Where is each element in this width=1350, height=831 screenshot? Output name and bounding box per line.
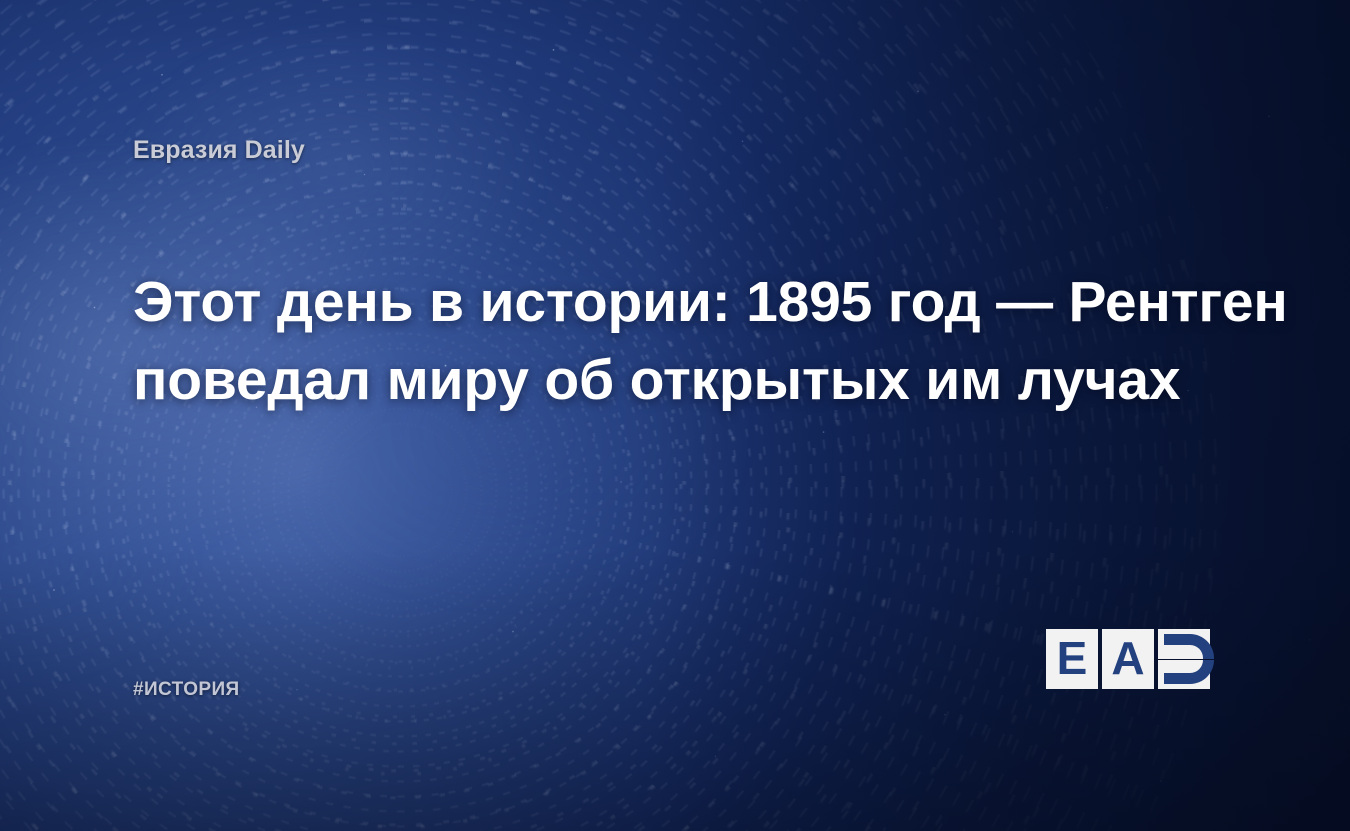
logo-arc-lower-icon (1158, 660, 1222, 689)
eadaily-logo[interactable]: E A (1046, 629, 1222, 689)
article-cover-card: Евразия Daily Этот день в истории: 1895 … (0, 0, 1350, 831)
logo-letter-e: E (1046, 629, 1098, 689)
headline-line-2: поведал миру об открытых им лучах (133, 341, 1243, 419)
cover-content: Евразия Daily Этот день в истории: 1895 … (0, 0, 1350, 831)
logo-letter-a: A (1102, 629, 1154, 689)
logo-arc-upper-icon (1158, 629, 1222, 659)
site-brand-label[interactable]: Евразия Daily (133, 136, 305, 165)
headline-line-1: Этот день в истории: 1895 год — Рентген (133, 263, 1243, 341)
logo-tile-a: A (1102, 629, 1154, 689)
page-title: Этот день в истории: 1895 год — Рентген … (133, 263, 1243, 419)
category-tag[interactable]: #ИСТОРИЯ (133, 679, 240, 701)
logo-tile-e: E (1046, 629, 1098, 689)
